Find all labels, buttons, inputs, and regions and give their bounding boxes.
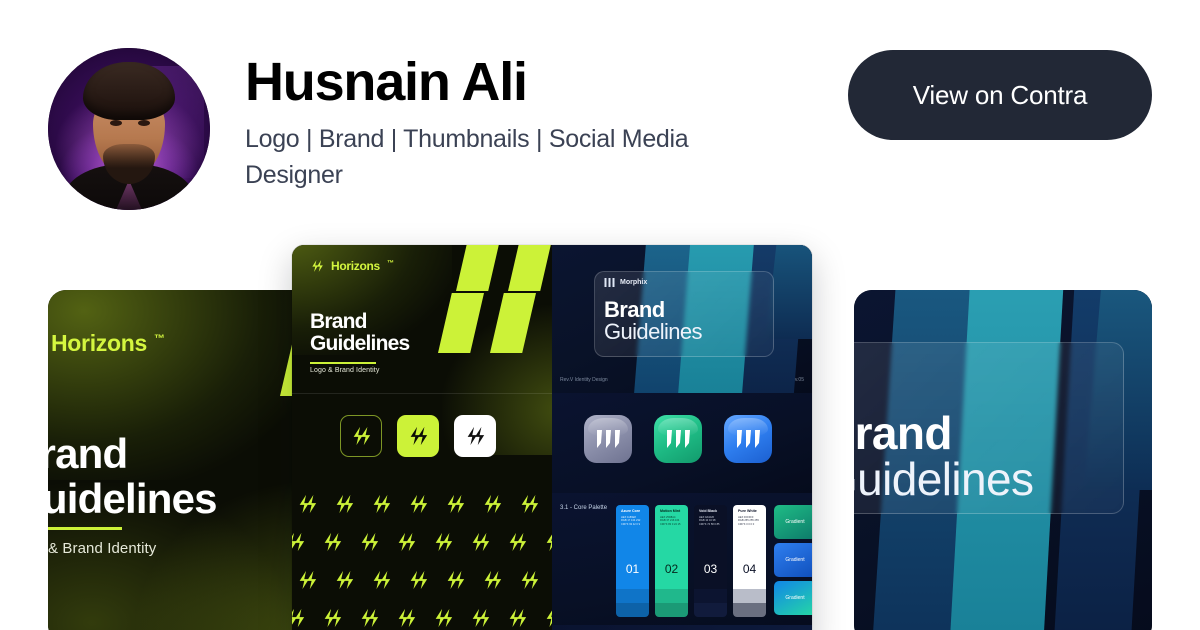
morphix-mark-icon [735, 429, 761, 449]
logo-tile-row [340, 415, 496, 457]
horizons-bolt-icon [518, 569, 540, 591]
morphix-cover-slide: Morphix Brand Guidelines Rev.V Identity … [552, 245, 812, 393]
horizons-bolt-icon [395, 607, 417, 629]
horizons-bolt-icon [350, 425, 372, 447]
horizons-heading-left: Brand Guidelines [48, 432, 217, 521]
color-swatch: Pure White HEX FFFFFF RGB 255 255 255 CM… [733, 505, 766, 617]
horizons-wordmark: Horizons [331, 259, 380, 273]
heading-line-2: Guidelines [604, 321, 702, 343]
view-on-contra-button[interactable]: View on Contra [848, 50, 1152, 140]
swatch-codes: HEX 0A1026 RGB 10 16 38 CMYK 74 58 0 85 [699, 516, 722, 527]
heading-line-1: Brand [310, 310, 367, 333]
logo-pattern-grid [292, 489, 552, 630]
swatch-shade-1 [616, 589, 649, 603]
avatar-eye-right [138, 120, 150, 126]
swatch-codes: HEX 25D8A4 RGB 37 216 164 CMYK 83 0 24 1… [660, 516, 683, 527]
portfolio-gallery: Horizons ™ Brand Guidelines Logo & Brand… [0, 230, 1200, 630]
swatch-name: Pure White [738, 510, 761, 514]
avatar [48, 48, 210, 210]
morphix-icon-blue [724, 415, 772, 463]
horizons-heading: Brand Guidelines [310, 311, 409, 356]
morphix-app-icons-slide [552, 393, 812, 493]
heading-line-1: Brand [854, 410, 1033, 456]
horizons-bolt-icon [432, 607, 454, 629]
swatch-shade-1 [733, 589, 766, 603]
swatch-number: 04 [733, 562, 766, 576]
horizons-subtitle: Logo & Brand Identity [310, 367, 379, 374]
swatch-body: Pure White HEX FFFFFF RGB 255 255 255 CM… [733, 505, 766, 589]
horizons-bolt-icon [310, 259, 324, 273]
horizons-bolt-icon [321, 531, 343, 553]
horizons-logo-lockup: Horizons ™ [310, 259, 394, 273]
palette-section-title: 3.1 - Core Palette [560, 505, 607, 511]
pattern-row [296, 493, 552, 515]
morphix-heading-right: Brand Guidelines [854, 410, 1033, 502]
panel-divider [292, 393, 552, 394]
morphix-palette-slide: 3.1 - Core Palette Azure Core HEX 1186E8… [552, 493, 812, 630]
horizons-bolt-icon [444, 493, 466, 515]
gradient-tile: Gradient [774, 543, 812, 577]
heading-line-2: Guidelines [310, 332, 409, 355]
lime-parallelogram-1 [456, 245, 502, 291]
profile-share-card: Husnain Ali Logo | Brand | Thumbnails | … [0, 0, 1200, 630]
morphix-cover-page-number: v.05 [795, 377, 804, 383]
horizons-bolt-icon [370, 569, 392, 591]
horizons-bolt-icon [432, 531, 454, 553]
morphix-mark-icon [665, 429, 691, 449]
swatch-name: Void Black [699, 510, 722, 514]
swatch-shade-1 [655, 589, 688, 603]
horizons-artwork-center: Horizons ™ Brand Guidelines Logo & Brand… [292, 245, 552, 630]
swatch-shade-2 [733, 603, 766, 617]
morphix-heading: Brand Guidelines [604, 299, 702, 343]
pattern-row [292, 531, 552, 553]
horizons-bolt-icon [469, 531, 491, 553]
heading-line-1: Brand [604, 299, 702, 321]
horizons-bolt-icon [358, 607, 380, 629]
color-swatch: Motion Mint HEX 25D8A4 RGB 37 216 164 CM… [655, 505, 688, 617]
swatch-number: 03 [694, 562, 727, 576]
swatch-shade-2 [655, 603, 688, 617]
lime-parallelogram-2 [508, 245, 552, 291]
morphix-cover-caption: Rev.V Identity Design [560, 377, 608, 383]
horizons-trademark-symbol: ™ [154, 333, 165, 345]
swatch-codes: HEX FFFFFF RGB 255 255 255 CMYK 0 0 0 0 [738, 516, 761, 527]
pattern-row [292, 607, 552, 629]
gradient-label: Gradient [785, 557, 804, 563]
swatch-number: 02 [655, 562, 688, 576]
avatar-eye-left [110, 120, 122, 126]
morphix-wordmark: Morphix [620, 279, 647, 286]
logo-tile-outline [340, 415, 382, 457]
morphix-cover-art: Morphix Brand Guidelines Rev.V Identity … [552, 245, 812, 393]
horizons-bolt-icon [481, 569, 503, 591]
color-swatch-row: Azure Core HEX 1186E8 RGB 17 134 232 CMY… [616, 505, 812, 617]
app-icon-row [584, 415, 772, 463]
horizons-trademark-symbol: ™ [387, 260, 394, 267]
palette-footer-bar: Core Guidelines 3.1 CORE 25 [552, 625, 812, 630]
horizons-bolt-icon [333, 569, 355, 591]
swatch-name: Motion Mint [660, 510, 683, 514]
horizons-bolt-icon [370, 493, 392, 515]
horizons-bolt-icon [407, 493, 429, 515]
horizons-rule-left [48, 527, 122, 530]
horizons-bolt-icon [543, 531, 552, 553]
profile-header: Husnain Ali Logo | Brand | Thumbnails | … [0, 0, 1200, 230]
gradient-label: Gradient [785, 519, 804, 525]
swatch-shade-1 [694, 589, 727, 603]
color-swatch: Void Black HEX 0A1026 RGB 10 16 38 CMYK … [694, 505, 727, 617]
horizons-bolt-icon [444, 569, 466, 591]
morphix-mark-icon [604, 278, 615, 287]
morphix-icon-green [654, 415, 702, 463]
swatch-codes: HEX 1186E8 RGB 17 134 232 CMYK 93 42 0 9 [621, 516, 644, 527]
horizons-bolt-icon [321, 607, 343, 629]
gradient-label: Gradient [785, 595, 804, 601]
morphix-artwork-right: Brand Guidelines [854, 290, 1152, 630]
morphix-panel: Morphix Brand Guidelines Rev.V Identity … [552, 245, 812, 630]
horizons-bolt-icon [481, 493, 503, 515]
morphix-icon-gray [584, 415, 632, 463]
horizons-bolt-icon [407, 569, 429, 591]
horizons-bolt-icon [464, 425, 486, 447]
logo-tile-white [454, 415, 496, 457]
heading-line-2: Guidelines [48, 475, 217, 522]
horizons-bolt-icon [292, 607, 306, 629]
horizons-bolt-icon [333, 493, 355, 515]
swatch-body: Motion Mint HEX 25D8A4 RGB 37 216 164 CM… [655, 505, 688, 589]
color-swatch: Azure Core HEX 1186E8 RGB 17 134 232 CMY… [616, 505, 649, 617]
swatch-name: Azure Core [621, 510, 644, 514]
portfolio-card-right[interactable]: Brand Guidelines [854, 290, 1152, 630]
avatar-photo [48, 48, 210, 210]
gradient-column: Gradient Gradient Gradient [774, 505, 812, 617]
morphix-logo-lockup: Morphix [604, 278, 647, 287]
page-title: Husnain Ali [245, 54, 805, 111]
heading-line-1: Brand [48, 430, 127, 477]
swatch-number: 01 [616, 562, 649, 576]
gradient-tile: Gradient [774, 505, 812, 539]
horizons-bolt-icon [407, 425, 429, 447]
heading-line-2: Guidelines [854, 456, 1033, 502]
horizons-bolt-icon [296, 569, 318, 591]
horizons-bolt-icon [296, 493, 318, 515]
horizons-rule [310, 362, 376, 364]
horizons-bolt-icon [358, 531, 380, 553]
swatch-body: Void Black HEX 0A1026 RGB 10 16 38 CMYK … [694, 505, 727, 589]
morphix-mark-icon [595, 429, 621, 449]
swatch-shade-2 [616, 603, 649, 617]
swatch-shade-2 [694, 603, 727, 617]
horizons-subtitle-left: Logo & Brand Identity [48, 540, 156, 557]
profile-subtitle: Logo | Brand | Thumbnails | Social Media… [245, 121, 760, 194]
horizons-bolt-icon [518, 493, 540, 515]
gradient-tile: Gradient [774, 581, 812, 615]
logo-tile-solid [397, 415, 439, 457]
horizons-bolt-icon [506, 531, 528, 553]
portfolio-card-center[interactable]: Horizons ™ Brand Guidelines Logo & Brand… [292, 245, 812, 630]
horizons-wordmark: Horizons [51, 330, 147, 357]
swatch-body: Azure Core HEX 1186E8 RGB 17 134 232 CMY… [616, 505, 649, 589]
profile-identity: Husnain Ali Logo | Brand | Thumbnails | … [245, 54, 805, 194]
horizons-bolt-icon [543, 607, 552, 629]
horizons-bolt-icon [506, 607, 528, 629]
pattern-row [296, 569, 552, 591]
horizons-bolt-icon [395, 531, 417, 553]
horizons-bolt-icon [292, 531, 306, 553]
horizons-bolt-icon [469, 607, 491, 629]
horizons-panel: Horizons ™ Brand Guidelines Logo & Brand… [292, 245, 552, 630]
horizons-logo-lockup-left: Horizons ™ [48, 330, 165, 357]
